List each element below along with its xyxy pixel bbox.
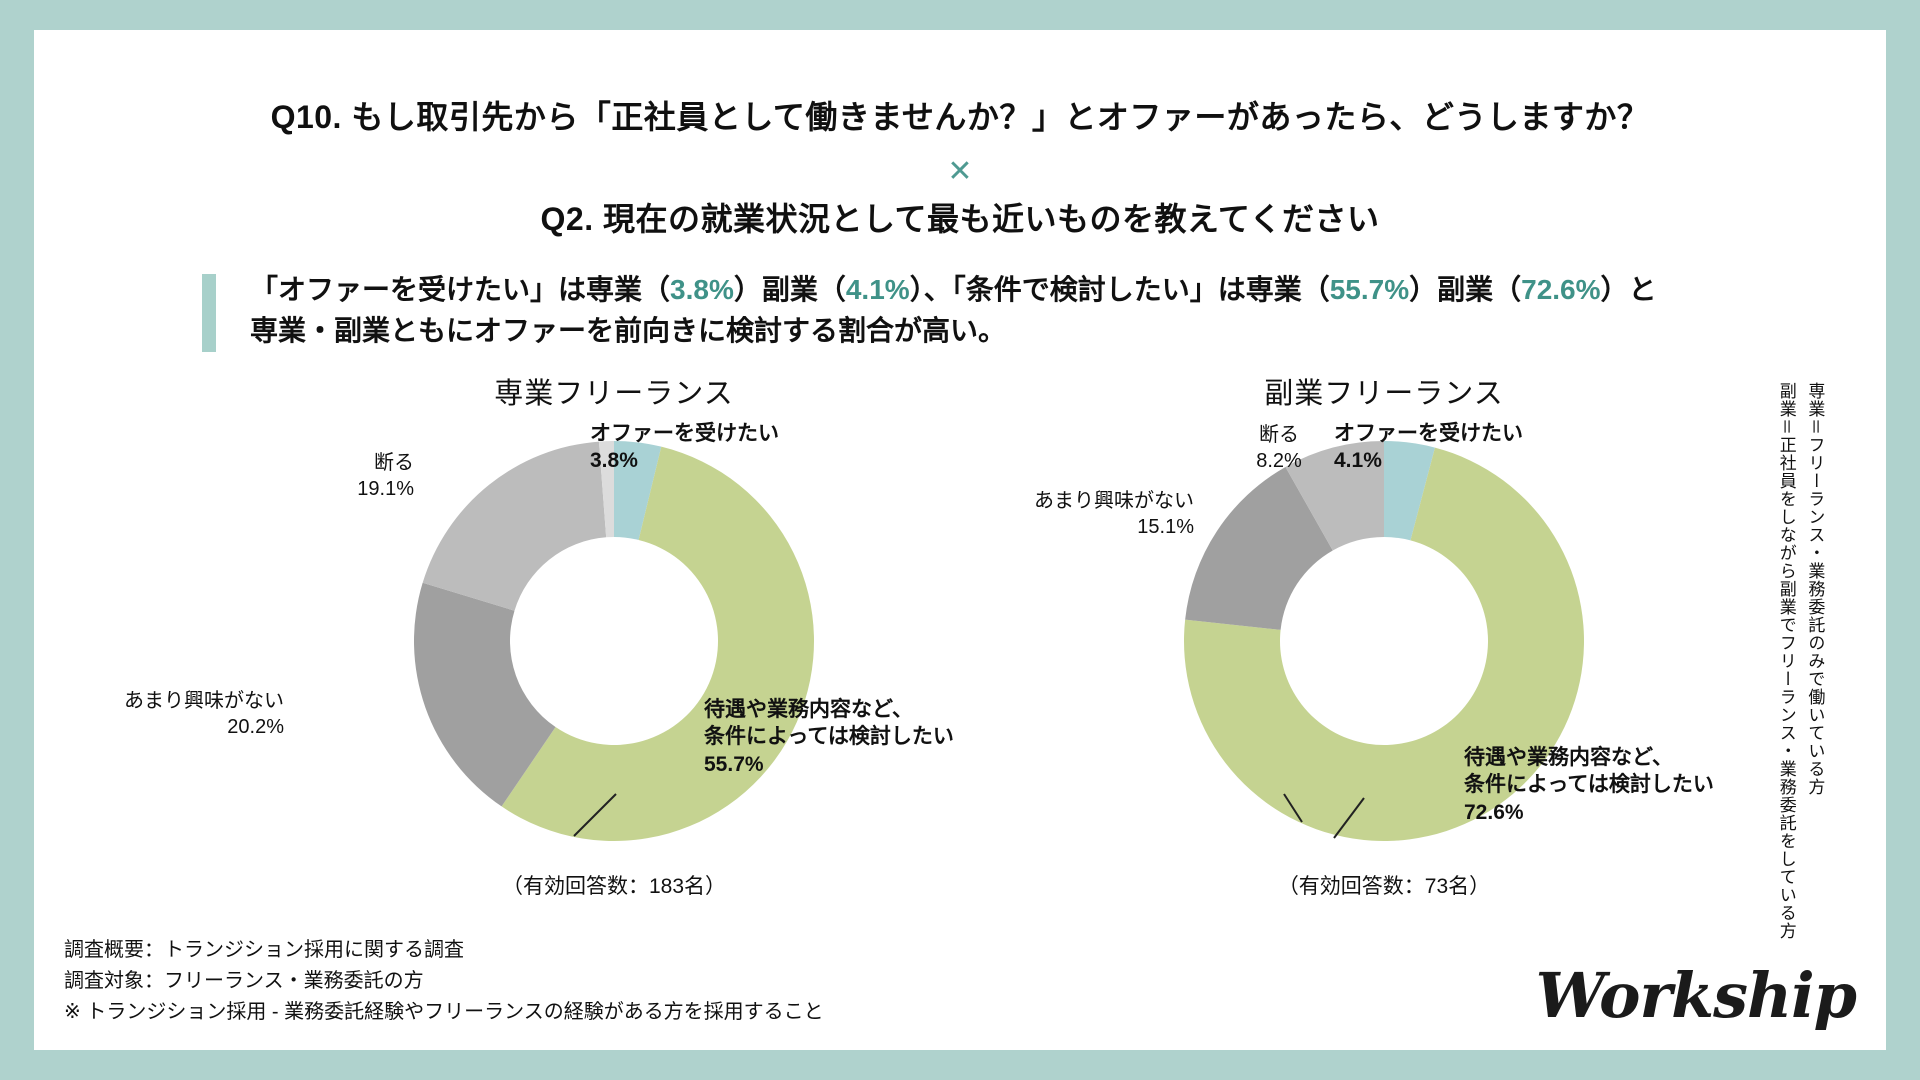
sample-note-fukugyo: （有効回答数：73名） bbox=[1034, 870, 1734, 900]
sample-note-senyo: （有効回答数：183名） bbox=[264, 870, 964, 900]
side-note-fukugyo: 副業＝正社員をしながら副業でフリーランス・業務委託をしている方 bbox=[1776, 382, 1795, 982]
summary-seg-1: 「オファーを受けたい」は専業（ bbox=[250, 274, 670, 305]
main-card: Q10. もし取引先から「正社員として働きませんか？」とオファーがあったら、どう… bbox=[34, 30, 1886, 1050]
label-kotowaru-senyo: 断る 19.1% bbox=[244, 450, 414, 502]
summary-value-2: 4.1% bbox=[846, 274, 910, 305]
label-kyomi-fukugyo: あまり興味がない 15.1% bbox=[944, 488, 1194, 540]
page-title: Q10. もし取引先から「正社員として働きませんか？」とオファーがあったら、どう… bbox=[34, 92, 1886, 138]
summary-seg-2: ）副業（ bbox=[734, 274, 846, 305]
summary-seg-4: ）副業（ bbox=[1409, 274, 1521, 305]
donut-holder-fukugyo: オファーを受けたい 4.1% 断る 8.2% あまり興味がない 15.1% 待遇… bbox=[1034, 426, 1734, 856]
footer-notes: 調査概要：トランジション採用に関する調査 調査対象：フリーランス・業務委託の方 … bbox=[64, 935, 824, 1028]
summary-accent-bar bbox=[202, 274, 216, 352]
label-joken-fukugyo: 待遇や業務内容など、 条件によっては検討したい 72.6% bbox=[1464, 744, 1764, 826]
label-offer-fukugyo: オファーを受けたい 4.1% bbox=[1334, 420, 1614, 475]
footer-line-1: 調査概要：トランジション採用に関する調査 bbox=[64, 935, 824, 966]
summary-line-1: 「オファーを受けたい」は専業（3.8%）副業（4.1%）、「条件で検討したい」は… bbox=[250, 270, 1822, 311]
summary-value-4: 72.6% bbox=[1521, 274, 1600, 305]
chart-senyo: 専業フリーランス オファーを受けたい 3.8% 断る 19.1% あまり興味がな… bbox=[264, 370, 964, 900]
side-note-senyo: 専業＝フリーランス・業務委託のみで働いている方 bbox=[1805, 382, 1824, 982]
chart-fukugyo: 副業フリーランス オファーを受けたい 4.1% 断る 8.2% あまり興味がない… bbox=[1034, 370, 1734, 900]
chart-title-senyo: 専業フリーランス bbox=[264, 370, 964, 412]
footer-line-3: ※ トランジション採用 - 業務委託経験やフリーランスの経験がある方を採用するこ… bbox=[64, 997, 824, 1028]
summary-line-2: 専業・副業ともにオファーを前向きに検討する割合が高い。 bbox=[250, 311, 1822, 352]
summary-text: 「オファーを受けたい」は専業（3.8%）副業（4.1%）、「条件で検討したい」は… bbox=[250, 270, 1822, 351]
donut-slices-senyo bbox=[414, 441, 814, 841]
donut-slice bbox=[423, 442, 607, 611]
summary-seg-5: ）と bbox=[1601, 274, 1657, 305]
label-offer-senyo: オファーを受けたい 3.8% bbox=[590, 420, 850, 475]
side-notes: 専業＝フリーランス・業務委託のみで働いている方 副業＝正社員をしながら副業でフリ… bbox=[1776, 382, 1823, 982]
summary-value-3: 55.7% bbox=[1330, 274, 1409, 305]
donut-holder-senyo: オファーを受けたい 3.8% 断る 19.1% あまり興味がない 20.2% 待… bbox=[264, 426, 964, 856]
footer-line-2: 調査対象：フリーランス・業務委託の方 bbox=[64, 966, 824, 997]
label-kotowaru-fukugyo: 断る 8.2% bbox=[1224, 422, 1334, 474]
summary-seg-3: ）、「条件で検討したい」は専業（ bbox=[910, 274, 1330, 305]
summary-callout: 「オファーを受けたい」は専業（3.8%）副業（4.1%）、「条件で検討したい」は… bbox=[202, 270, 1822, 351]
label-kyomi-senyo: あまり興味がない 20.2% bbox=[34, 688, 284, 740]
page-subtitle: Q2. 現在の就業状況として最も近いものを教えてください bbox=[34, 194, 1886, 240]
chart-title-fukugyo: 副業フリーランス bbox=[1034, 370, 1734, 412]
summary-value-1: 3.8% bbox=[670, 274, 734, 305]
workship-logo: Workship bbox=[1536, 959, 1856, 1032]
cross-icon: ✕ bbox=[34, 154, 1886, 189]
label-joken-senyo: 待遇や業務内容など、 条件によっては検討したい 55.7% bbox=[704, 696, 994, 778]
